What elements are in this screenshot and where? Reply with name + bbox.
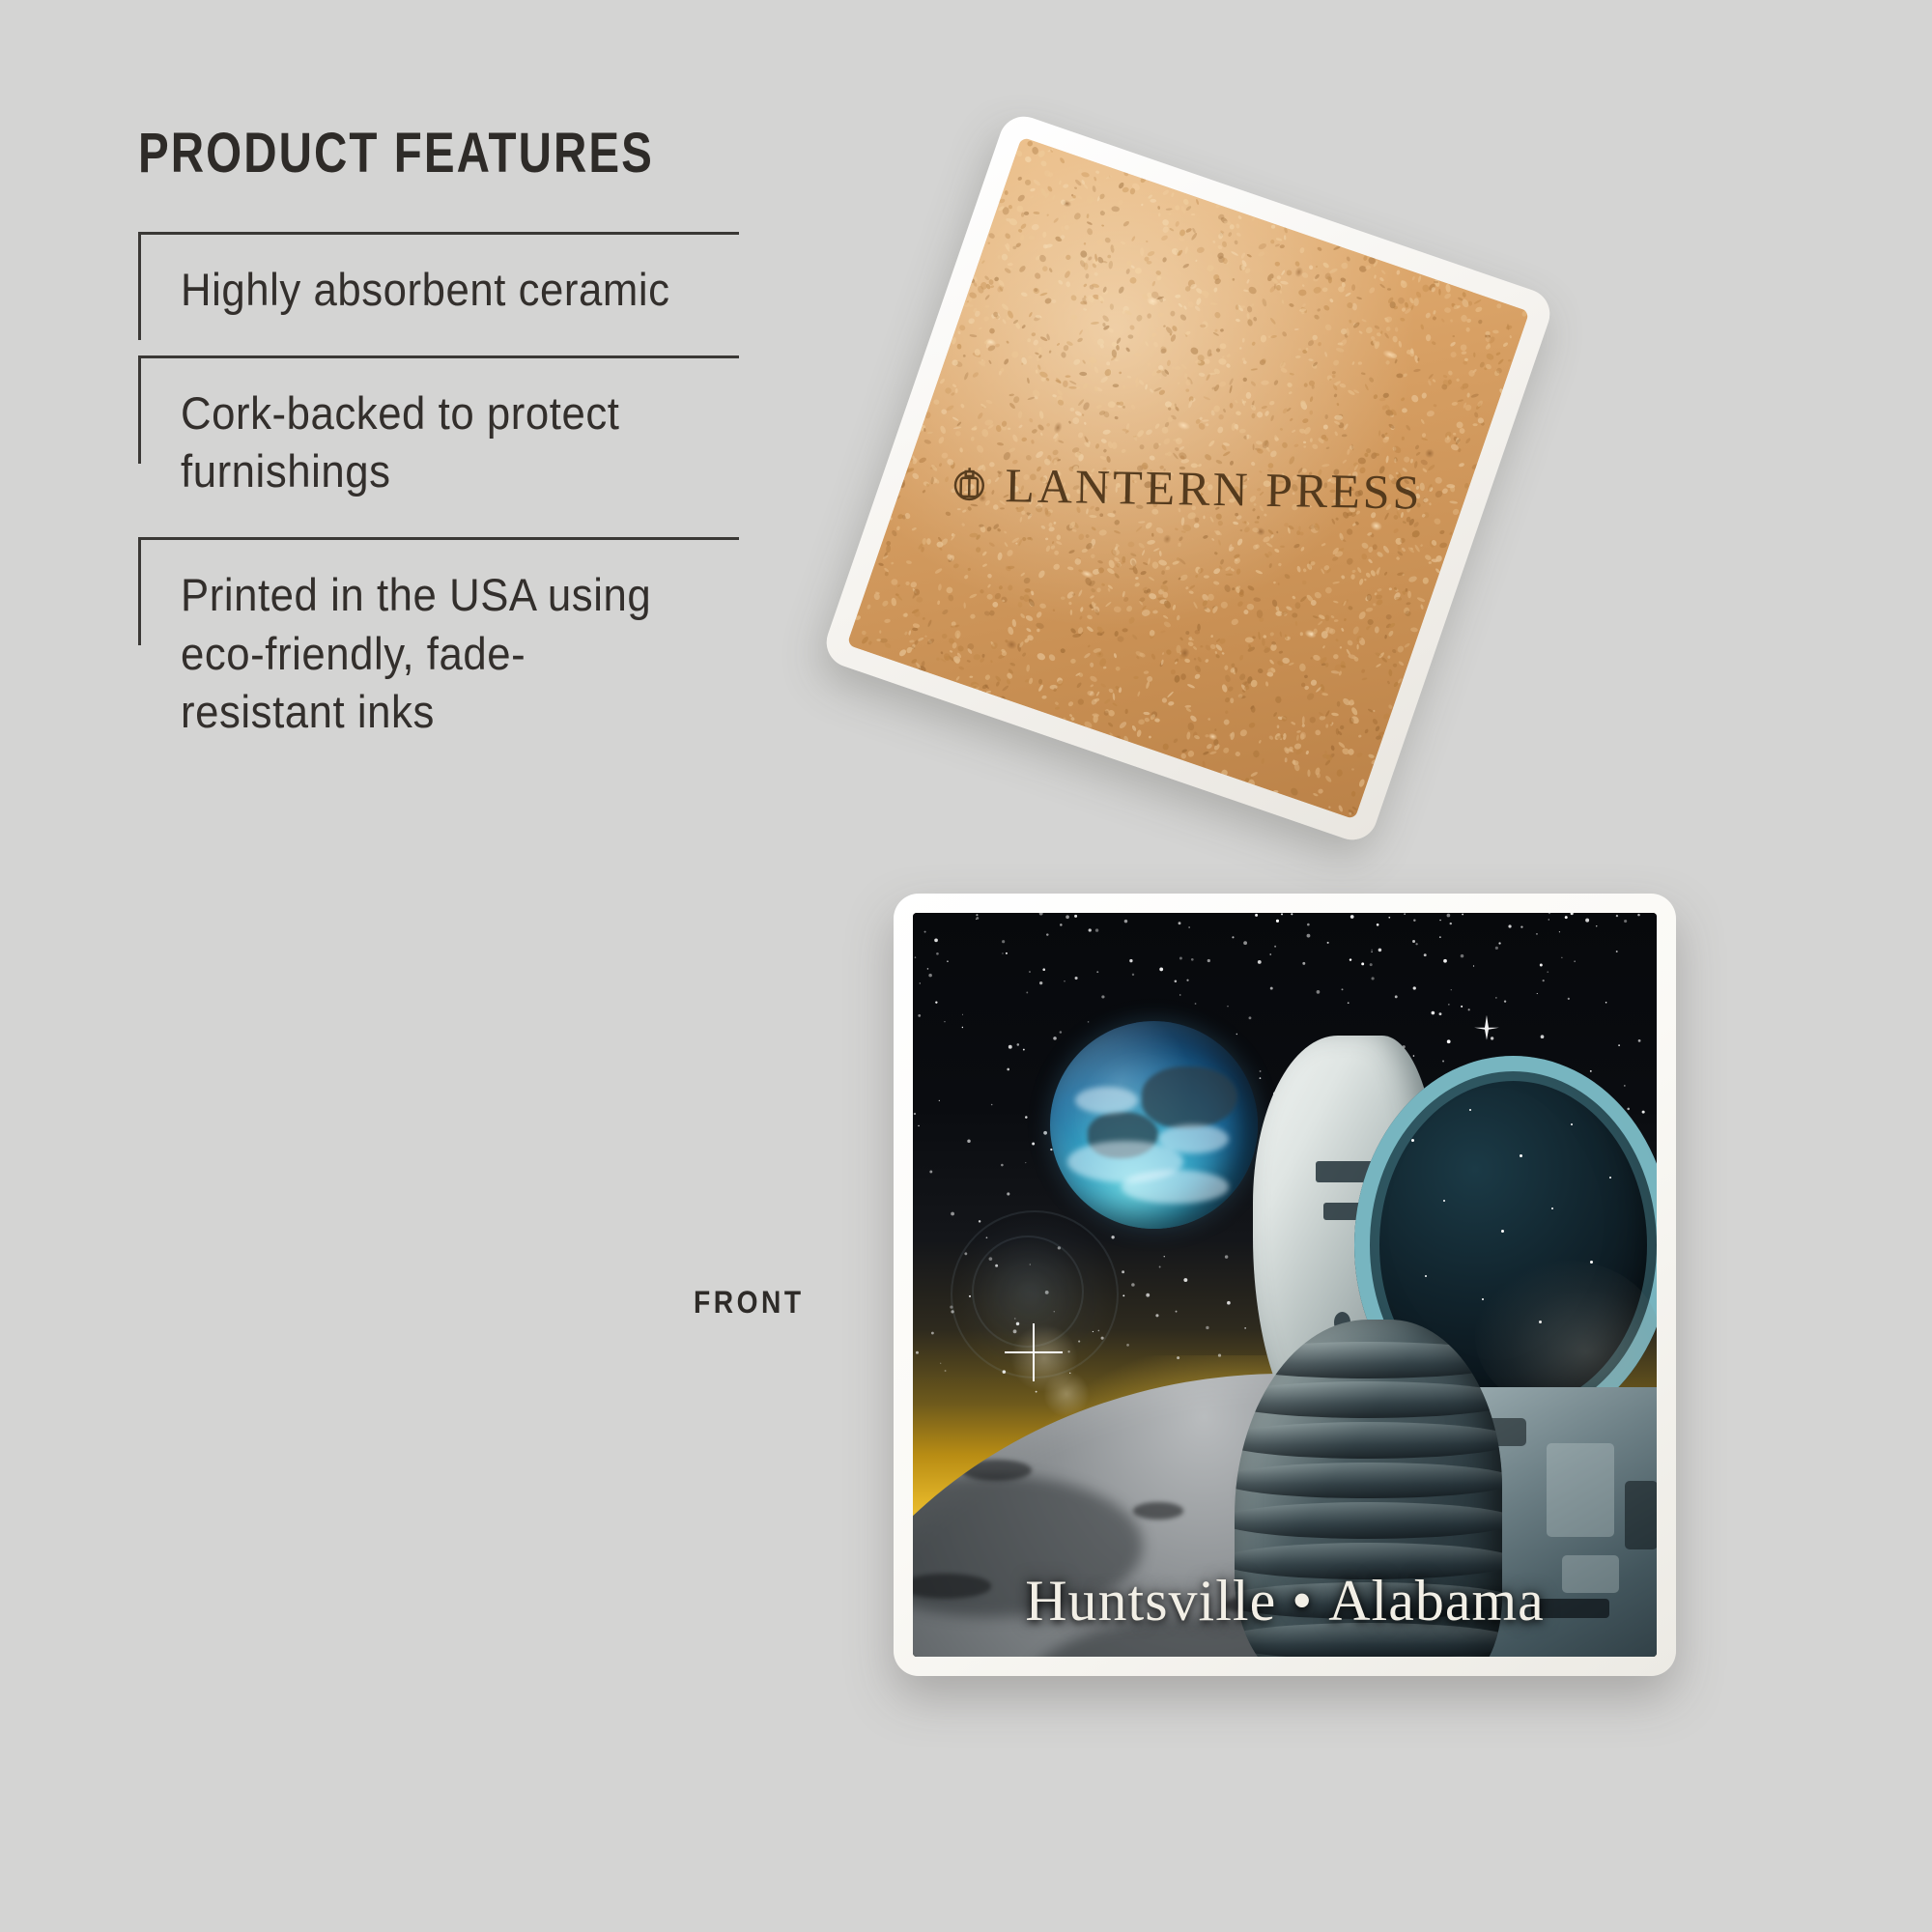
coaster-front-view: Huntsville•Alabama xyxy=(894,894,1676,1676)
caption-region: Alabama xyxy=(1328,1569,1545,1633)
artwork-caption: Huntsville•Alabama xyxy=(913,1568,1657,1634)
feature-divider-rule xyxy=(138,232,739,235)
feature-text: Cork-backed to protect furnishings xyxy=(181,384,684,500)
coaster-back-view: LANTERN PRESS xyxy=(820,110,1557,847)
feature-divider-tick xyxy=(138,355,141,464)
lens-flare xyxy=(951,1210,1163,1423)
caption-place: Huntsville xyxy=(1025,1569,1276,1633)
feature-divider-rule xyxy=(138,537,739,540)
feature-text: Highly absorbent ceramic xyxy=(181,261,684,319)
feature-text: Printed in the USA using eco-friendly, f… xyxy=(181,566,684,740)
lantern-press-wordmark: LANTERN PRESS xyxy=(1005,457,1423,521)
product-feature-graphic: PRODUCT FEATURES Highly absorbent cerami… xyxy=(0,0,1932,1932)
feature-item: Cork-backed to protect furnishings xyxy=(138,355,776,500)
feature-item: Highly absorbent ceramic xyxy=(138,232,776,319)
label-front: FRONT xyxy=(694,1285,805,1321)
caption-separator: • xyxy=(1292,1569,1313,1633)
cork-surface: LANTERN PRESS xyxy=(847,137,1530,820)
feature-divider-tick xyxy=(138,232,141,340)
lantern-icon xyxy=(947,462,992,507)
page-title: PRODUCT FEATURES xyxy=(138,126,661,182)
product-features-panel: PRODUCT FEATURES Highly absorbent cerami… xyxy=(138,126,776,778)
feature-item: Printed in the USA using eco-friendly, f… xyxy=(138,537,776,740)
feature-divider-tick xyxy=(138,537,141,645)
lantern-press-brand: LANTERN PRESS xyxy=(947,456,1423,521)
coaster-artwork: Huntsville•Alabama xyxy=(913,913,1657,1657)
feature-divider-rule xyxy=(138,355,739,358)
astronaut-figure xyxy=(1225,995,1657,1657)
